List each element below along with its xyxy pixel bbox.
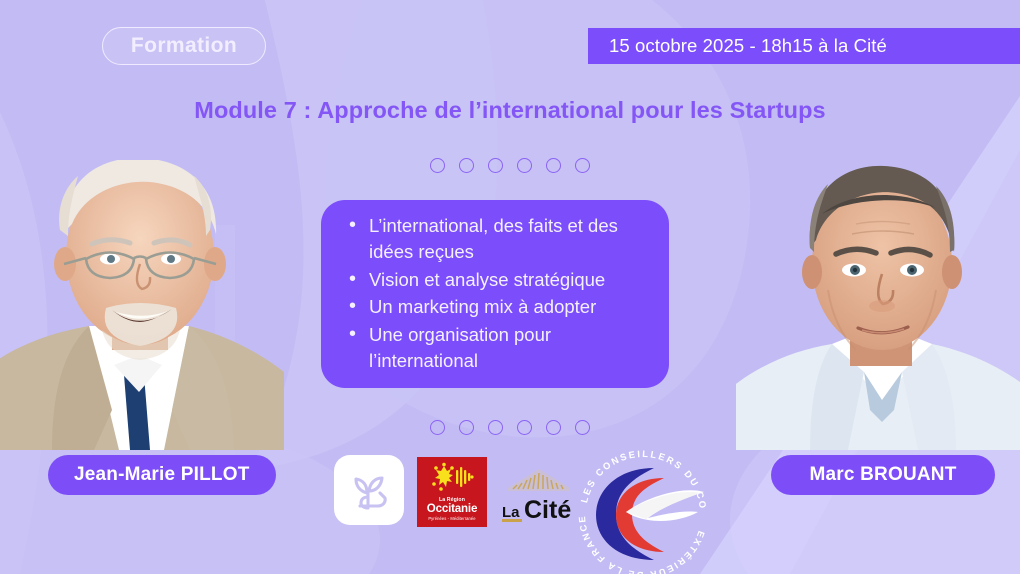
speaker-name-right: Marc BROUANT	[809, 464, 956, 486]
page-title: Module 7 : Approche de l’international p…	[0, 97, 1020, 124]
list-item: Vision et analyse stratégique	[347, 267, 647, 294]
event-poster: Formation 15 octobre 2025 - 18h15 à la C…	[0, 0, 1020, 574]
dot	[546, 420, 561, 435]
occitan-cross-icon	[430, 462, 474, 496]
dot	[575, 158, 590, 173]
formation-badge: Formation	[102, 27, 266, 65]
list-item: Une organisation pour l’international	[347, 322, 647, 375]
list-item: Un marketing mix à adopter	[347, 294, 647, 321]
occitanie-line3: Pyrénées - Méditerranée	[428, 516, 475, 521]
dot	[459, 420, 474, 435]
la-cite-word-small: La	[502, 504, 520, 521]
speaker-name-badge-right: Marc BROUANT	[771, 455, 995, 495]
formation-badge-label: Formation	[131, 34, 237, 58]
la-cite-word-main: Cité	[524, 496, 571, 524]
dot	[488, 158, 503, 173]
date-banner: 15 octobre 2025 - 18h15 à la Cité	[588, 28, 1020, 64]
agenda-card: L’international, des faits et des idées …	[321, 200, 669, 388]
dot	[575, 420, 590, 435]
speaker-name-left: Jean-Marie PILLOT	[74, 464, 250, 486]
la-cite-logo: La Cité	[500, 462, 578, 524]
occitanie-line2: Occitanie	[427, 503, 477, 515]
region-occitanie-logo: La Région Occitanie Pyrénées - Méditerra…	[417, 457, 487, 527]
la-cite-underline	[502, 519, 522, 522]
dot	[488, 420, 503, 435]
list-item: L’international, des faits et des idées …	[347, 213, 647, 266]
dot	[546, 158, 561, 173]
dot	[517, 158, 532, 173]
speaker-portrait-right	[736, 160, 1020, 450]
dot	[459, 158, 474, 173]
plant-hand-icon	[345, 466, 393, 514]
plant-in-hand-logo	[334, 455, 404, 525]
dot	[430, 158, 445, 173]
building-roof-icon	[508, 469, 570, 491]
ccef-logo: LES CONSEILLERS DU COMMERCE EXTÉRIEUR DE…	[568, 440, 718, 574]
speaker-name-badge-left: Jean-Marie PILLOT	[48, 455, 276, 495]
dot	[430, 420, 445, 435]
date-banner-text: 15 octobre 2025 - 18h15 à la Cité	[609, 35, 887, 57]
agenda-list: L’international, des faits et des idées …	[347, 213, 647, 376]
speaker-portrait-left	[0, 160, 284, 450]
dot	[517, 420, 532, 435]
